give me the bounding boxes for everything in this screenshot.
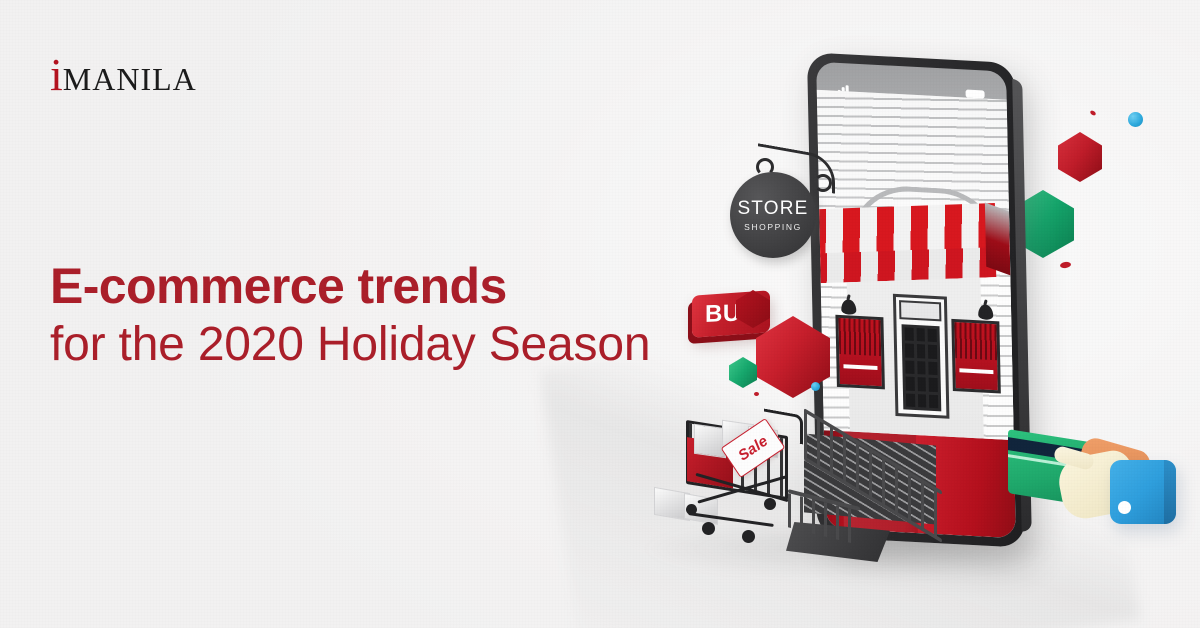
red-speck-icon — [1060, 261, 1072, 268]
sign-hook-icon — [814, 174, 832, 192]
blue-rounded-cube-icon — [1110, 460, 1176, 524]
cart-wheel — [764, 498, 776, 510]
illustration-scene: STORE SHOPPING BUY — [0, 0, 1200, 628]
sale-tag-label: Sale — [735, 432, 771, 464]
lantern-icon — [841, 294, 856, 315]
sign-title: STORE — [737, 198, 808, 220]
cart-wheel — [742, 530, 755, 543]
promo-banner: iManila E-commerce trends for the 2020 H… — [0, 0, 1200, 628]
sign-subtitle: SHOPPING — [744, 222, 802, 232]
store-awning — [816, 203, 996, 284]
green-cube-icon — [729, 357, 757, 388]
store-hanging-sign: STORE SHOPPING — [722, 152, 830, 260]
red-speck-icon — [754, 392, 759, 396]
red-speck-icon — [1089, 110, 1096, 117]
awning-side-panel — [985, 202, 1010, 275]
hand-with-credit-card — [1008, 428, 1198, 548]
shopping-cart: Sale — [668, 404, 818, 550]
store-facade — [817, 90, 1014, 442]
lantern-icon — [978, 299, 993, 320]
store-window-right — [951, 319, 1000, 394]
blue-sphere-icon — [1128, 112, 1143, 127]
red-cube-icon — [1058, 132, 1102, 182]
sign-disc: STORE SHOPPING — [730, 172, 816, 258]
cart-wheel — [702, 522, 715, 535]
cart-wheel — [686, 504, 697, 515]
store-window-left — [835, 315, 884, 390]
